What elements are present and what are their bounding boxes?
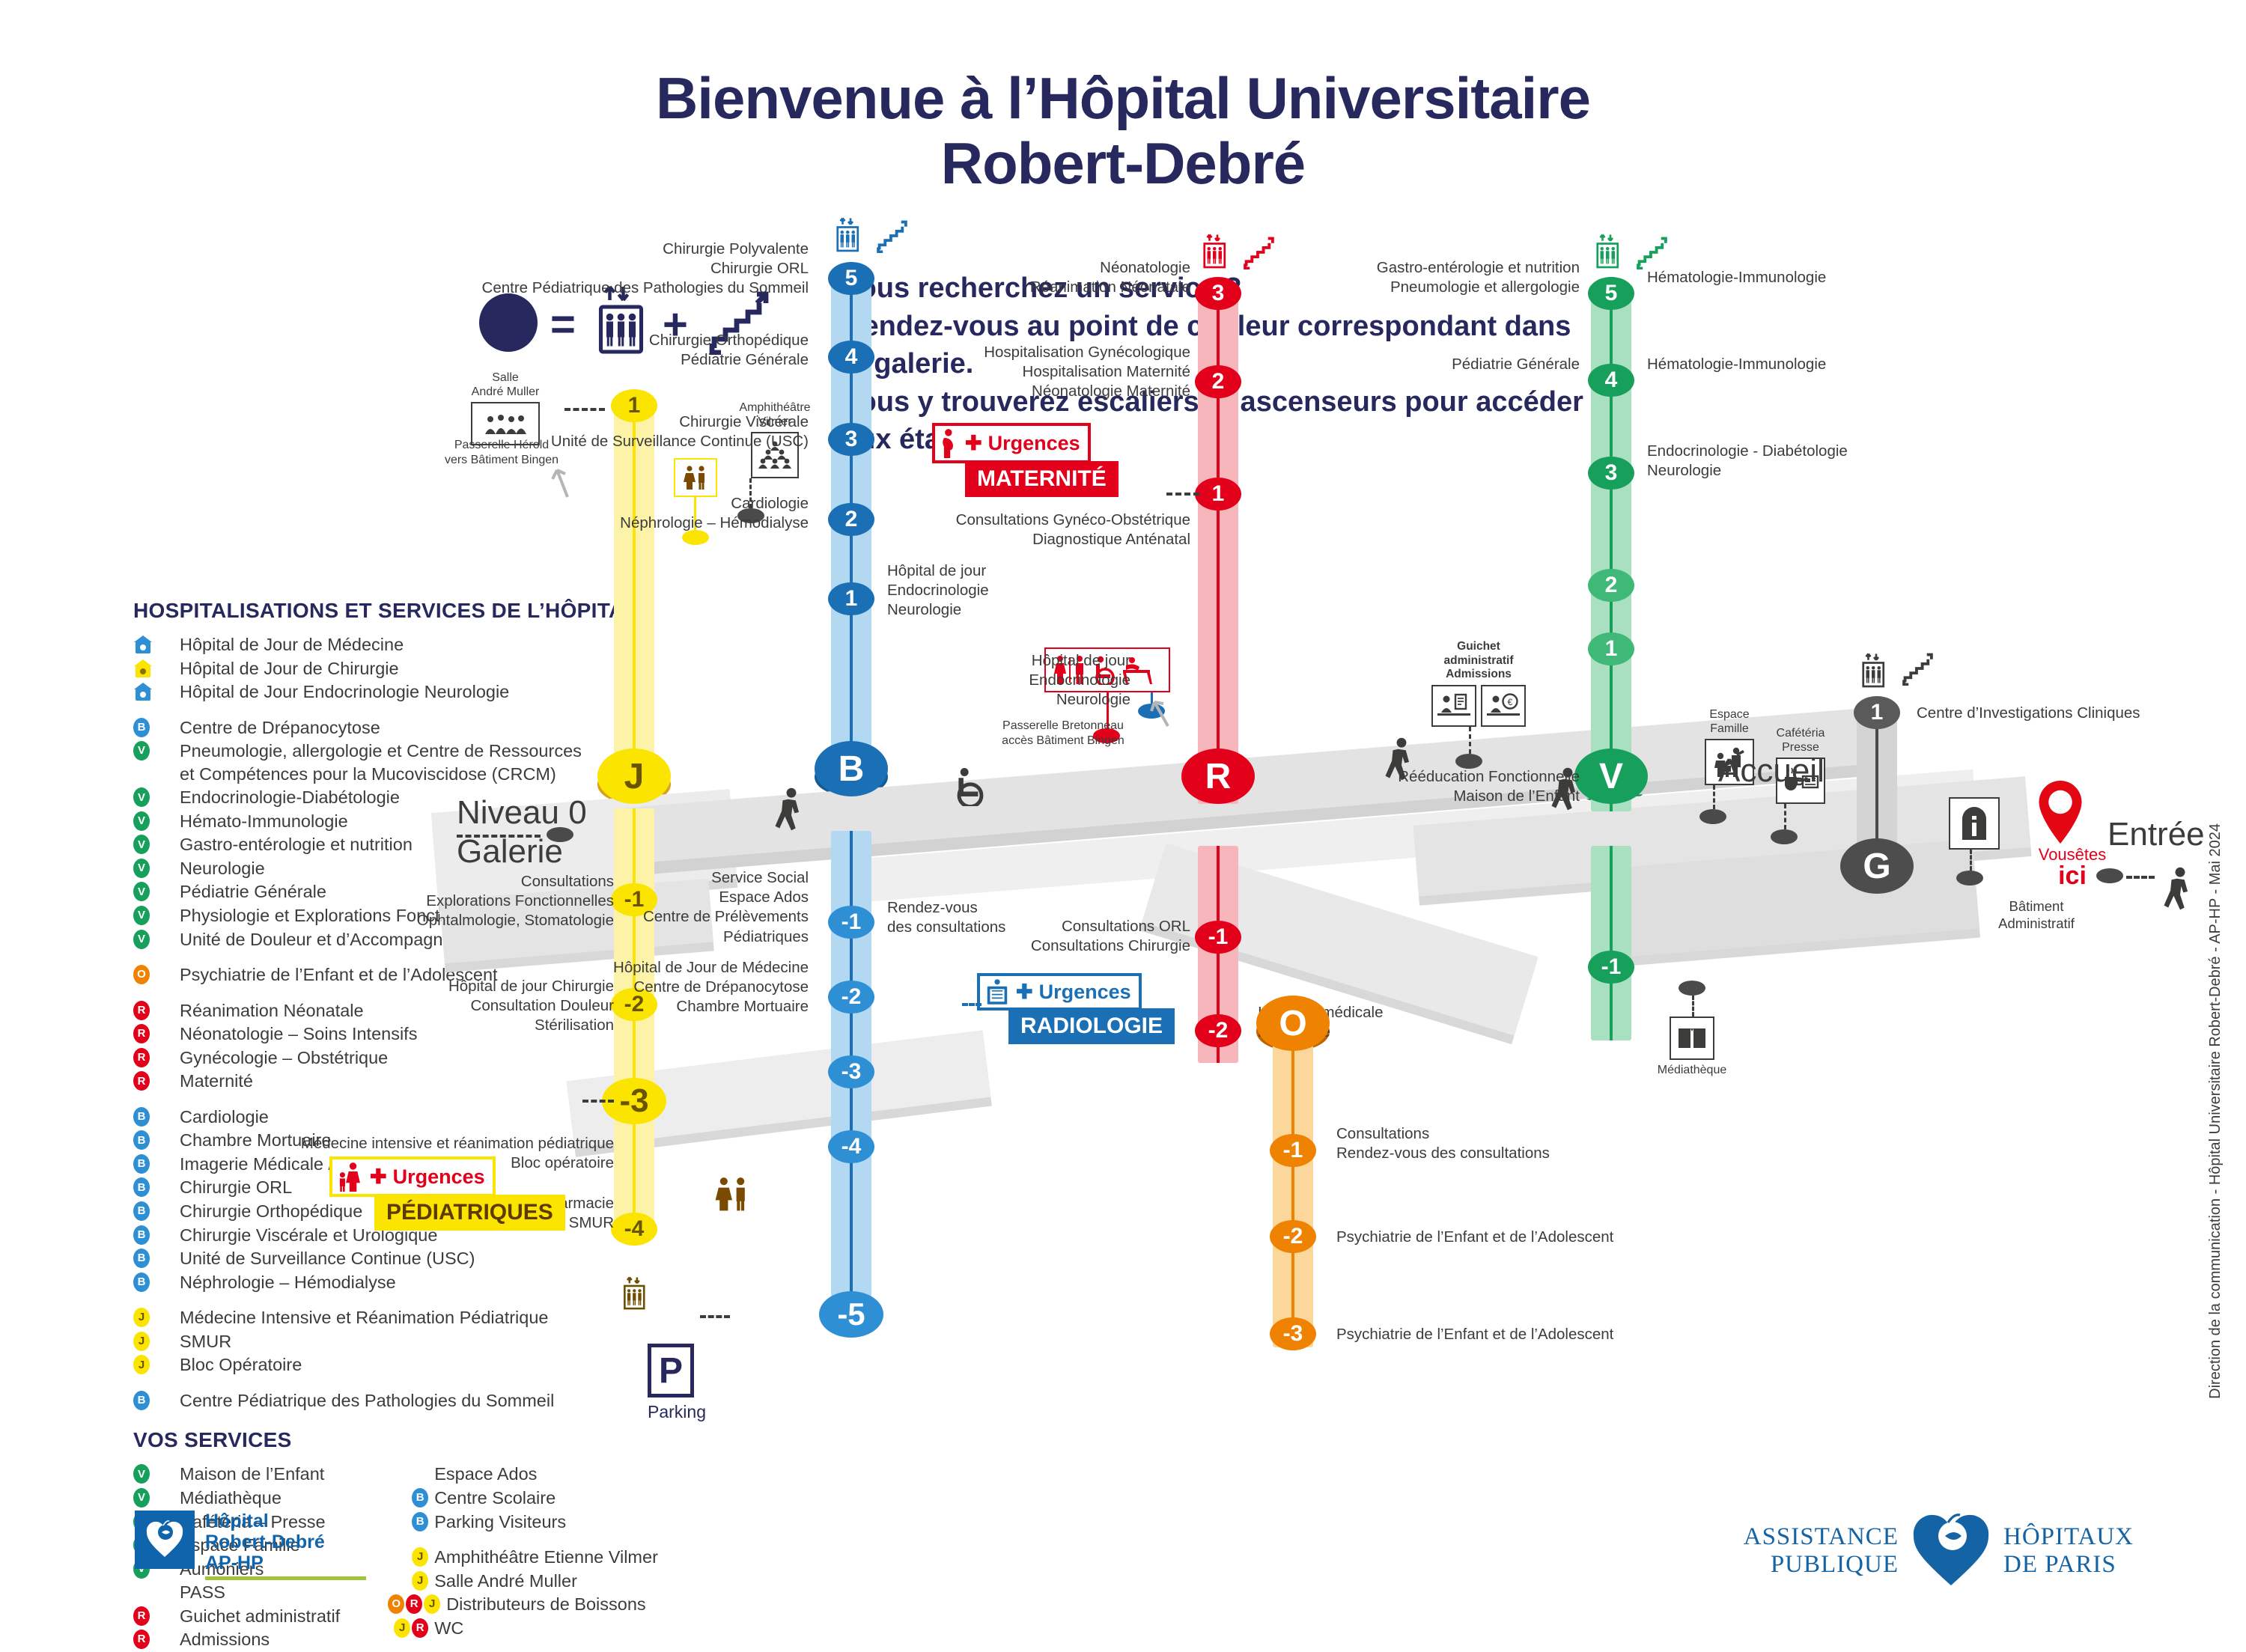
- point-badge-O: O: [133, 965, 150, 984]
- legend-item-badges: ORJ: [388, 1593, 443, 1614]
- column-R-label-1: Consultations Gynéco-Obstétrique Diagnos…: [936, 510, 1190, 549]
- amenity-mediatheque: Médiathèque: [1651, 981, 1733, 1080]
- column-B-stop--5[interactable]: -5: [819, 1291, 883, 1338]
- point-badge-V: V: [133, 906, 150, 925]
- column-J-label--1: Consultations Explorations Fonctionnelle…: [314, 872, 614, 931]
- column-V-stop-4[interactable]: 4: [1588, 364, 1634, 397]
- column-B-label-1: Hôpital de jour Endocrinologie Neurologi…: [887, 561, 1067, 621]
- amenity-caption: Espace Famille: [1688, 707, 1771, 736]
- legend-item-label: Pédiatrie Générale: [177, 880, 326, 903]
- connector-urgences-maternite: [1166, 493, 1199, 496]
- column-R-hub[interactable]: R: [1181, 749, 1255, 804]
- legend-item: BUnité de Surveillance Continue (USC): [133, 1247, 702, 1270]
- legend-item-label: Centre Pédiatrique des Pathologies du So…: [177, 1389, 554, 1412]
- logo-ap-hp: ASSISTANCE PUBLIQUE HÔPITAUX DE PARIS: [1744, 1514, 2134, 1588]
- point-badge-J: J: [394, 1618, 410, 1638]
- column-J-stop--4[interactable]: -4: [611, 1213, 657, 1246]
- legend-item: ORJDistributeurs de Boissons: [388, 1593, 658, 1616]
- column-B-stop-3[interactable]: 3: [828, 423, 874, 456]
- legend-item: BCentre Pédiatrique des Pathologies du S…: [133, 1389, 702, 1412]
- legend-section2-title: VOS SERVICES: [133, 1428, 702, 1452]
- point-badge-B: B: [133, 1130, 150, 1150]
- column-V-stop-5[interactable]: 5: [1588, 277, 1634, 310]
- title-line-2: Robert-Debré: [0, 131, 2246, 196]
- point-badge-J: J: [133, 1332, 150, 1351]
- column-O-hub[interactable]: O: [1256, 996, 1330, 1051]
- legend-group-gap: [388, 1534, 658, 1546]
- legend-item: RAdmissions: [133, 1628, 340, 1651]
- legend-item-badges: R: [133, 1022, 177, 1043]
- pedestrian-icon-2: [1385, 737, 1418, 790]
- page-title: Bienvenue à l’Hôpital Universitaire Robe…: [0, 66, 2246, 197]
- map-pin-blob: [1771, 829, 1798, 844]
- point-badge-V: V: [133, 835, 150, 854]
- legend-item: JSMUR: [133, 1330, 702, 1353]
- amenity-caption: Guichet administratif Admissions: [1422, 640, 1535, 682]
- point-badge-V: V: [133, 930, 150, 949]
- column-B-stop--3[interactable]: -3: [828, 1055, 874, 1088]
- amenity-info-point: [1944, 797, 2004, 886]
- point-badge-V: V: [133, 1488, 150, 1508]
- legend-group-gap: [133, 1294, 702, 1306]
- column-B-stop-1[interactable]: 1: [828, 582, 874, 615]
- column-G-stop-1[interactable]: 1: [1854, 696, 1900, 729]
- legend-item-badges: J: [133, 1353, 177, 1374]
- point-badge-B: B: [412, 1512, 428, 1531]
- legend-item-badges: B: [133, 1247, 177, 1268]
- column-V-label-5-left: Gastro-entérologie et nutrition Pneumolo…: [1318, 258, 1580, 297]
- map-pin-blob: [1679, 981, 1705, 996]
- legend-item-badges: J: [388, 1570, 431, 1591]
- parking-letter: P: [648, 1344, 694, 1398]
- point-badge-V: V: [133, 1464, 150, 1484]
- connector-stem: [1970, 850, 1972, 871]
- point-badge-R: R: [133, 1630, 150, 1649]
- point-badge-R: R: [133, 1071, 150, 1091]
- map-pin-blob: [1699, 809, 1726, 824]
- connector-stem: [1692, 996, 1694, 1017]
- connector-stem: [1784, 804, 1786, 829]
- column-O-label--3: Psychiatrie de l’Enfant et de l’Adolesce…: [1336, 1325, 1681, 1344]
- legend-item-badges: [133, 680, 177, 701]
- column-B-stop-2[interactable]: 2: [828, 503, 874, 536]
- legend-item-badges: JR: [388, 1617, 431, 1638]
- svg-text:€: €: [1508, 697, 1513, 707]
- column-B-stop--2[interactable]: -2: [828, 981, 874, 1014]
- column-R-stop-3[interactable]: 3: [1195, 277, 1241, 310]
- point-badge-B: B: [133, 1391, 150, 1410]
- amenity-caption: Cafétéria Presse: [1759, 726, 1842, 755]
- desk-form-icon: [1431, 685, 1476, 727]
- legend-item-badges: B: [388, 1487, 431, 1508]
- label-batiment-administratif: Bâtiment Administratif: [1969, 898, 2104, 932]
- label-hopital-jour-endocrinologie: Hôpital de jour Endocrinologie Neurologi…: [958, 651, 1130, 710]
- connector-urgences-pediatriques: [582, 1100, 614, 1103]
- legend-item-label: Pneumologie, allergologie et Centre de R…: [177, 740, 582, 785]
- point-badge-V: V: [133, 811, 150, 831]
- connector-urgences-radiologie: [962, 1003, 982, 1006]
- legend-item-label: Centre Scolaire: [431, 1487, 556, 1510]
- point-badge-B: B: [412, 1488, 428, 1508]
- elevator-icon-R: [1199, 234, 1231, 273]
- label-passerelle-bretonneau: Passerelle Bretonneau accès Bâtiment Bin…: [977, 719, 1149, 749]
- column-V-stop-1[interactable]: 1: [1588, 633, 1634, 665]
- stairs-icon-G: [1902, 651, 1936, 689]
- legend-item-badges: B: [133, 716, 177, 737]
- sign-urgences-pediatriques: ✚ Urgences PÉDIATRIQUES: [329, 1156, 565, 1231]
- map-pin-blob: [1956, 871, 1983, 886]
- title-line-1: Bienvenue à l’Hôpital Universitaire: [0, 66, 2246, 131]
- house-blue-icon: [133, 635, 153, 654]
- legend-item: BNéphrologie – Hémodialyse: [133, 1271, 702, 1294]
- column-J-hub[interactable]: J: [597, 749, 671, 804]
- legend-item-badges: R: [133, 1628, 177, 1649]
- legend-item-label: Amphithéâtre Etienne Vilmer: [431, 1546, 658, 1569]
- legend-item-badges: V: [133, 740, 177, 761]
- sign-urgences-radiologie: ✚ Urgences RADIOLOGIE: [977, 973, 1175, 1044]
- column-B-label-2: Cardiologie Néphrologie – Hémodialyse: [584, 494, 809, 533]
- column-G-hub[interactable]: G: [1840, 838, 1914, 894]
- legend-item-badges: R: [133, 1605, 177, 1626]
- label-niveau-0-galerie: Niveau 0 Galerie: [457, 793, 587, 871]
- legend-item-label: Unité de Surveillance Continue (USC): [177, 1247, 475, 1270]
- amenity-wc-pediatric: [711, 1175, 753, 1216]
- legend-item-label: Chirurgie ORL: [177, 1176, 292, 1199]
- legend-item-badges: O: [133, 963, 177, 984]
- point-badge-R: R: [133, 1001, 150, 1020]
- point-badge-J: J: [133, 1355, 150, 1374]
- column-V-spine-lower: [1610, 846, 1613, 1040]
- legend-item-label: Hôpital de Jour Endocrinologie Neurologi…: [177, 680, 509, 704]
- sign-line-2: MATERNITÉ: [965, 461, 1119, 497]
- legend-item-badges: R: [133, 1046, 177, 1067]
- column-B-label-5: Chirurgie Polyvalente Chirurgie ORL Cent…: [389, 240, 809, 299]
- legend-item-label: Guichet administratif: [177, 1605, 340, 1628]
- legend-item: JMédecine Intensive et Réanimation Pédia…: [133, 1306, 702, 1329]
- column-O-stop--2[interactable]: -2: [1270, 1220, 1316, 1253]
- connector-stem: [1469, 727, 1471, 754]
- hospital-map: 1 J -1 -2 -3 -4 Consultations Exploratio…: [629, 479, 2134, 1422]
- connector-salle-muller: [564, 408, 605, 411]
- house-yellow-icon: [133, 659, 153, 678]
- color-dot-icon: [479, 293, 538, 352]
- column-V-stop-3[interactable]: 3: [1588, 457, 1634, 490]
- elevator-icon-G: [1858, 653, 1890, 692]
- point-badge-B: B: [133, 1107, 150, 1127]
- point-badge-V: V: [133, 741, 150, 761]
- pedestrian-icon-3: [1551, 767, 1584, 820]
- legend-item-badges: V: [133, 786, 177, 807]
- stairs-icon-B: [876, 219, 910, 257]
- legend-item-label: Médecine Intensive et Réanimation Pédiat…: [177, 1306, 549, 1329]
- legend-item-badges: B: [133, 1129, 177, 1150]
- stairs-icon-V: [1636, 235, 1670, 273]
- column-B-stop--4[interactable]: -4: [828, 1130, 874, 1163]
- legend-item-badges: B: [133, 1106, 177, 1127]
- equals-sign: =: [550, 299, 576, 350]
- legend-item: RGuichet administratif: [133, 1605, 340, 1628]
- pedestrian-icon-4: [2164, 867, 2197, 920]
- column-V-label-4-left: Pédiatrie Générale: [1393, 355, 1580, 374]
- map-pin-blob: [1455, 754, 1482, 769]
- connector-stem: [1713, 785, 1715, 809]
- legend-item: PASS: [133, 1581, 340, 1604]
- legend-item-badges: [133, 657, 177, 678]
- legend-item: JBloc Opératoire: [133, 1353, 702, 1377]
- sign-line-1: ✚ Urgences: [977, 973, 1142, 1011]
- point-badge-B: B: [133, 1225, 150, 1245]
- legend-item-badges: V: [133, 1487, 177, 1508]
- point-badge-V: V: [133, 859, 150, 878]
- legend-item: JAmphithéâtre Etienne Vilmer: [388, 1546, 658, 1569]
- legend-item-label: Neurologie: [177, 857, 265, 880]
- column-R-stop--2[interactable]: -2: [1195, 1014, 1241, 1047]
- point-badge-J: J: [424, 1594, 440, 1614]
- column-O-label--2: Psychiatrie de l’Enfant et de l’Adolesce…: [1336, 1228, 1681, 1247]
- point-badge-V: V: [133, 787, 150, 807]
- sign-line-2: RADIOLOGIE: [1008, 1008, 1175, 1044]
- arrow-passerelle-herold: [1145, 696, 1175, 733]
- column-R-stop-1[interactable]: 1: [1195, 478, 1241, 510]
- sign-urgences-maternite: ✚ Urgences MATERNITÉ: [932, 423, 1119, 497]
- legend-item-badges: B: [133, 1176, 177, 1197]
- arrow-passerelle-herold-2: [547, 464, 576, 504]
- amenity-caption: Salle André Muller: [449, 371, 561, 399]
- point-badge-R: R: [133, 1024, 150, 1043]
- legend-item-badges: J: [133, 1306, 177, 1327]
- legend-group-gap: [133, 1377, 702, 1389]
- legend-item-label: Endocrinologie-Diabétologie: [177, 786, 400, 809]
- column-V-label-5-right: Hématologie-Immunologie: [1647, 268, 1894, 287]
- desk-euro-icon: €: [1481, 685, 1526, 727]
- legend-item-label: Cardiologie: [177, 1106, 269, 1129]
- legend-item-badges: B: [133, 1271, 177, 1292]
- point-badge-R: R: [412, 1618, 428, 1638]
- column-B-stop--1[interactable]: -1: [828, 906, 874, 939]
- legend-item-badges: J: [388, 1546, 431, 1567]
- legend-item-label: Espace Ados: [431, 1463, 537, 1486]
- parking-sign: P Parking: [648, 1344, 706, 1422]
- legend-item-badges: R: [133, 1070, 177, 1091]
- legend-item: BParking Visiteurs: [388, 1511, 658, 1534]
- point-badge-B: B: [133, 718, 150, 737]
- legend-item-label: Néphrologie – Hémodialyse: [177, 1271, 396, 1294]
- column-V-stop-2[interactable]: 2: [1588, 569, 1634, 602]
- logo-text: Hôpital Robert-Debré AP-HP: [205, 1511, 366, 1573]
- legend-item-label: PASS: [177, 1581, 225, 1604]
- legend-item-label: Médiathèque: [177, 1487, 281, 1510]
- logo-text-block: Hôpital Robert-Debré AP-HP: [205, 1511, 366, 1580]
- legend-item-label: Hôpital de Jour de Médecine: [177, 633, 404, 656]
- logo-rule: [205, 1576, 366, 1580]
- elevator-icon-B: [833, 217, 864, 257]
- column-R-stop--1[interactable]: -1: [1195, 921, 1241, 954]
- logo-ap-text-right: HÔPITAUX DE PARIS: [2003, 1523, 2134, 1579]
- sign-line-1: ✚ Urgences: [932, 423, 1091, 463]
- legend-item-label: Admissions: [177, 1628, 270, 1651]
- point-badge-R: R: [406, 1594, 422, 1614]
- legend-item-label: Distributeurs de Boissons: [443, 1593, 645, 1616]
- point-badge-R: R: [133, 1048, 150, 1067]
- house-blue-icon: [133, 682, 153, 701]
- legend-item-label: Maternité: [177, 1070, 253, 1093]
- legend-item-badges: J: [133, 1330, 177, 1351]
- legend-item-label: Parking Visiteurs: [431, 1511, 566, 1534]
- logo-square: [135, 1511, 195, 1569]
- column-O-stop--3[interactable]: -3: [1270, 1317, 1316, 1350]
- legend-item: JRWC: [388, 1617, 658, 1640]
- legend-item-badges: V: [133, 857, 177, 878]
- column-B-label--1: Service Social Espace Ados Centre de Pré…: [584, 868, 809, 947]
- column-V-label-4-right: Hématologie-Immunologie: [1647, 355, 1894, 374]
- legend-item-label: Gynécologie – Obstétrique: [177, 1046, 388, 1070]
- legend-item-badges: V: [133, 1463, 177, 1484]
- point-badge-B: B: [133, 1272, 150, 1292]
- legend-item: VMaison de l’Enfant: [133, 1463, 340, 1486]
- credit-note: Direction de la communication - Hôpital …: [2207, 823, 2224, 1399]
- column-G-label-1: Centre d’Investigations Cliniques: [1917, 704, 2216, 723]
- column-V-hub[interactable]: V: [1574, 749, 1648, 804]
- legend-item-badges: V: [133, 880, 177, 901]
- column-R-stop-2[interactable]: 2: [1195, 365, 1241, 398]
- column-O-stop--1[interactable]: -1: [1270, 1134, 1316, 1167]
- column-B-label-4: Chirurgie Orthopédique Pédiatrie Général…: [584, 331, 809, 370]
- legend-item-badges: R: [133, 999, 177, 1020]
- point-badge-J: J: [412, 1571, 428, 1591]
- stairs-icon-R: [1243, 235, 1277, 273]
- legend-item-label: Hémato-Immunologie: [177, 810, 348, 833]
- legend-item-badges: V: [133, 833, 177, 854]
- you-are-here-pin-icon: [2034, 778, 2087, 850]
- elevator-icon-J: [620, 1276, 650, 1314]
- connector-parking: [700, 1315, 730, 1318]
- legend-item-badges: B: [388, 1511, 431, 1531]
- legend-item-badges: [388, 1463, 431, 1464]
- legend-item-label: Hôpital de Jour de Chirurgie: [177, 657, 399, 680]
- column-O-spine: [1291, 1040, 1294, 1347]
- amenity-guichet-admissions: Guichet administratif Admissions €: [1422, 640, 1535, 769]
- wheelchair-icon: [951, 767, 990, 810]
- book-icon: [1670, 1017, 1714, 1060]
- point-badge-O: O: [388, 1594, 404, 1614]
- legend-item-label: Gastro-entérologie et nutrition: [177, 833, 413, 856]
- heart-logo-icon: [145, 1520, 184, 1558]
- column-J-spine-upper: [633, 403, 636, 762]
- amenity-caption: Médiathèque: [1651, 1063, 1733, 1077]
- column-B-label--2: Hôpital de Jour de Médecine Centre de Dr…: [539, 958, 809, 1017]
- column-R-label-3: Néonatologie Réanimation Néonatale: [981, 258, 1190, 297]
- legend-item-label: SMUR: [177, 1330, 231, 1353]
- elevator-icon-V: [1592, 234, 1624, 273]
- legend-item: VMédiathèque: [133, 1487, 340, 1510]
- column-B-stop-5[interactable]: 5: [828, 262, 874, 295]
- column-V-label--1: Rééducation Fonctionnelle Maison de l’En…: [1325, 767, 1580, 806]
- column-B-hub[interactable]: B: [815, 741, 888, 796]
- legend-item-badges: B: [133, 1200, 177, 1221]
- point-badge-B: B: [133, 1249, 150, 1268]
- legend-item-label: Bloc Opératoire: [177, 1353, 302, 1377]
- column-R-label-2: Hospitalisation Gynécologique Hospitalis…: [928, 343, 1190, 402]
- label-entree: Entrée: [2107, 816, 2205, 853]
- map-pin-blob: [2096, 868, 2123, 883]
- legend-item-badges: B: [133, 1389, 177, 1410]
- legend-item-badges: B: [133, 1224, 177, 1245]
- legend-item-label: Centre de Drépanocytose: [177, 716, 380, 740]
- info-icon: [1949, 797, 2000, 850]
- legend-item-badges: [133, 1581, 177, 1582]
- legend-item: BCentre Scolaire: [388, 1487, 658, 1510]
- aphp-heart-icon: [1909, 1514, 1993, 1588]
- legend-item: JSalle André Muller: [388, 1570, 658, 1593]
- column-R-label--1: Consultations ORL Consultations Chirurgi…: [958, 917, 1190, 956]
- legend-item-badges: [133, 633, 177, 654]
- parking-label: Parking: [648, 1402, 706, 1422]
- wc-icon: [674, 458, 717, 497]
- connector-entrance: [2126, 876, 2155, 879]
- point-badge-B: B: [133, 1177, 150, 1197]
- point-badge-R: R: [133, 1606, 150, 1626]
- label-accueil: Accueil: [1718, 752, 1825, 790]
- point-badge-J: J: [412, 1547, 428, 1567]
- column-V-stop--1[interactable]: -1: [1588, 951, 1634, 984]
- point-badge-V: V: [133, 882, 150, 901]
- legend-item-label: Maison de l’Enfant: [177, 1463, 324, 1486]
- point-badge-B: B: [133, 1154, 150, 1174]
- legend-item: Espace Ados: [388, 1463, 658, 1486]
- sign-line-2: PÉDIATRIQUES: [374, 1195, 565, 1231]
- amenity-entrance-blob: [2096, 868, 2123, 883]
- logo-ap-text-left: ASSISTANCE PUBLIQUE: [1744, 1523, 1899, 1579]
- pedestrian-icon-1: [775, 787, 808, 841]
- column-V-label-3-right: Endocrinologie - Diabétologie Neurologie: [1647, 442, 1894, 481]
- logo-hopital-robert-debre: Hôpital Robert-Debré AP-HP: [135, 1511, 366, 1580]
- point-badge-B: B: [133, 1201, 150, 1221]
- column-B-stop-4[interactable]: 4: [828, 341, 874, 374]
- legend-item-badges: V: [133, 928, 177, 949]
- sign-line-1: ✚ Urgences: [329, 1156, 496, 1197]
- legend-item-label: Salle André Muller: [431, 1570, 577, 1593]
- legend-item-label: WC: [431, 1617, 463, 1640]
- point-badge-J: J: [133, 1308, 150, 1327]
- legend-item-badges: V: [133, 904, 177, 925]
- legend-item-badges: B: [133, 1153, 177, 1174]
- column-O-label--1: Consultations Rendez-vous des consultati…: [1336, 1124, 1636, 1163]
- legend-item-badges: V: [133, 810, 177, 831]
